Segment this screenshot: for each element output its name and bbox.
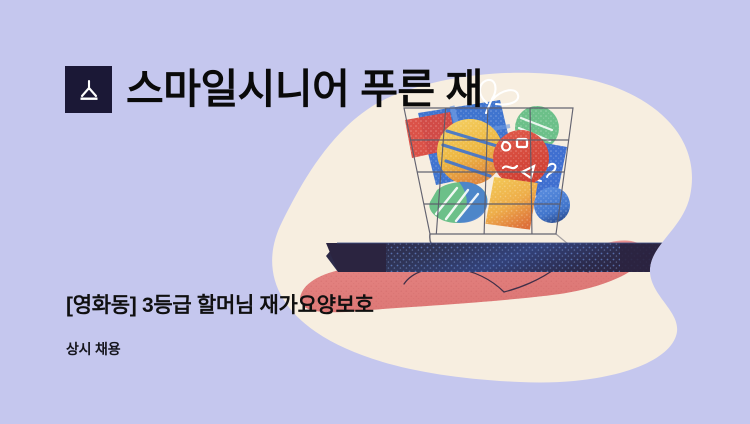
brand-name: 스마일시니어 푸른 재 (126, 69, 483, 110)
serving-tray (326, 243, 686, 272)
smile-senior-logo-icon (65, 66, 112, 113)
brand-header: 스마일시니어 푸른 재 (65, 66, 483, 113)
job-posting-banner: 스마일시니어 푸른 재 [영화동] 3등급 할머님 재가요양보호 상시 채용 (0, 0, 750, 424)
ball-yellow-striped (437, 119, 503, 185)
job-title: [영화동] 3등급 할머님 재가요양보호 (66, 293, 374, 319)
illustration-artwork (0, 0, 750, 424)
posting-copy: [영화동] 3등급 할머님 재가요양보호 상시 채용 (66, 293, 374, 359)
ball-red-patterned (493, 130, 549, 186)
job-status-badge: 상시 채용 (66, 339, 374, 359)
ball-blue (534, 187, 570, 223)
